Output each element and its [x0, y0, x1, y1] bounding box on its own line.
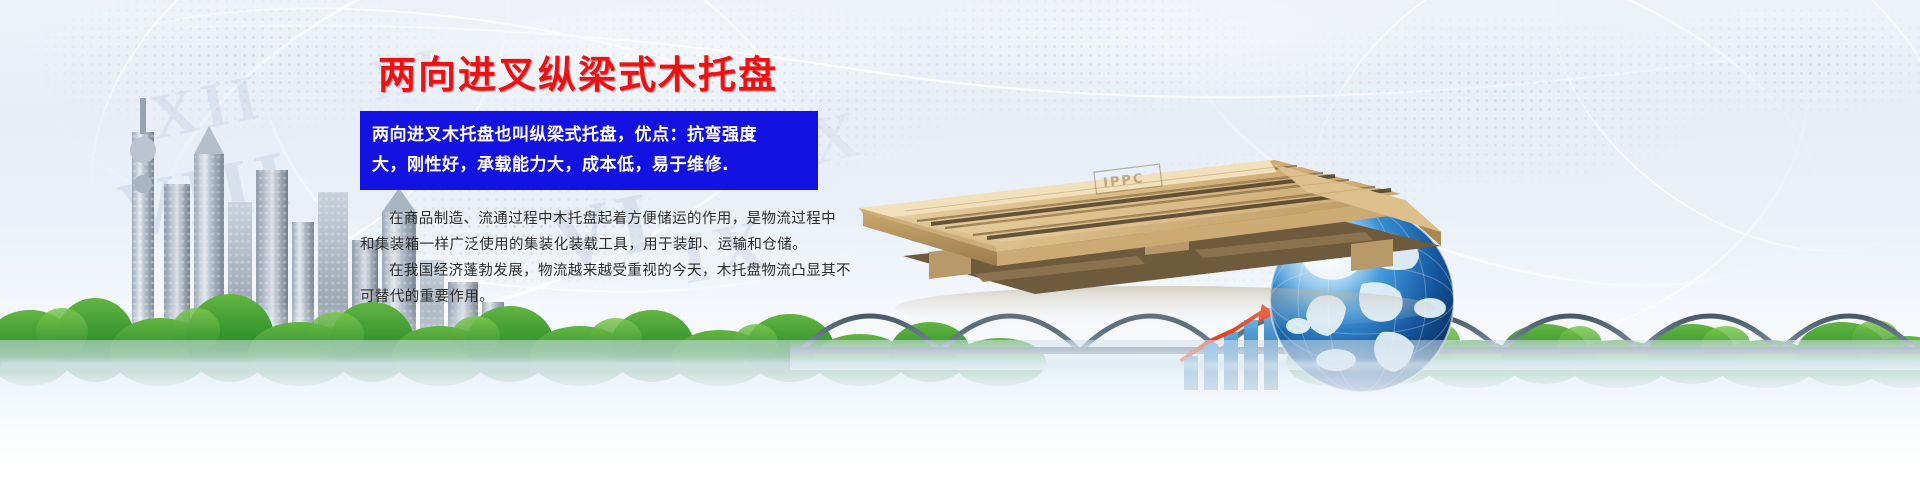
description-line: 在商品制造、流通过程中木托盘起着方便储运的作用，是物流过程中 [360, 206, 840, 232]
description-line: 在我国经济蓬勃发展，物流越来越受重视的今天，木托盘物流凸显其不 [360, 258, 840, 284]
text-content-block: 两向进叉纵梁式木托盘 两向进叉木托盘也叫纵梁式托盘，优点：抗弯强度 大，刚性好，… [360, 44, 860, 310]
description-line: 可替代的重要作用。 [360, 284, 840, 310]
highlight-line: 大，刚性好，承载能力大，成本低，易于维修. [372, 150, 806, 180]
wooden-pallet-photo: IPPC [845, 60, 1465, 330]
water-reflection [0, 340, 1920, 500]
product-banner: VIII XII VI IX XI X [0, 0, 1920, 500]
description-paragraph: 在商品制造、流通过程中木托盘起着方便储运的作用，是物流过程中 和集装箱一样广泛使… [360, 206, 840, 310]
highlight-callout-box: 两向进叉木托盘也叫纵梁式托盘，优点：抗弯强度 大，刚性好，承载能力大，成本低，易… [360, 111, 818, 190]
description-line: 和集装箱一样广泛使用的集装化装载工具，用于装卸、运输和仓储。 [360, 232, 840, 258]
page-title: 两向进叉纵梁式木托盘 [378, 44, 860, 99]
highlight-line: 两向进叉木托盘也叫纵梁式托盘，优点：抗弯强度 [372, 120, 806, 150]
